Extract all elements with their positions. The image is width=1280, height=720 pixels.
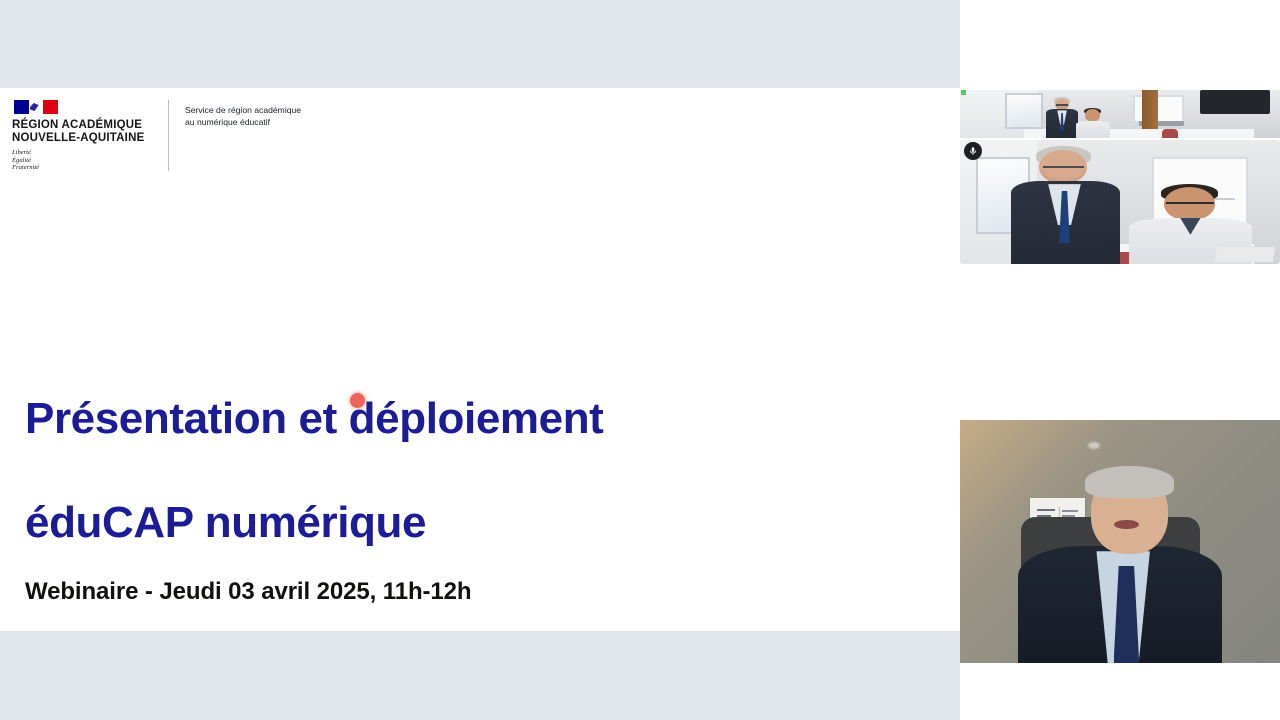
institutional-logo: RÉGION ACADÉMIQUE NOUVELLE-AQUITAINE Lib… — [12, 100, 301, 171]
video-tile-room-main[interactable] — [960, 140, 1280, 264]
meeting-room-main-scene — [960, 140, 1280, 264]
laser-pointer-dot — [350, 393, 365, 408]
meeting-room-scene — [960, 90, 1280, 138]
slide-subtitle: Webinaire - Jeudi 03 avril 2025, 11h-12h — [25, 578, 471, 606]
microphone-icon[interactable] — [964, 142, 982, 160]
video-tile-room-wide[interactable] — [960, 90, 1280, 138]
logo-divider — [168, 100, 169, 171]
service-label: Service de région académique au numériqu… — [185, 100, 301, 128]
motto-liberte: Liberté — [12, 149, 152, 156]
service-line-1: Service de région académique — [185, 104, 301, 116]
home-office-scene — [960, 420, 1280, 663]
slide-title-line-1: Présentation et déploiement — [25, 367, 925, 471]
shared-slide-area[interactable]: RÉGION ACADÉMIQUE NOUVELLE-AQUITAINE Lib… — [0, 0, 960, 720]
participant-video-rail — [960, 0, 1280, 720]
slide-title: Présentation et déploiement éduCAP numér… — [25, 367, 925, 575]
slide-letterbox-bottom — [0, 631, 960, 720]
meeting-screen-share-view: RÉGION ACADÉMIQUE NOUVELLE-AQUITAINE Lib… — [0, 0, 1280, 720]
region-academique-line2: NOUVELLE-AQUITAINE — [12, 132, 152, 145]
participant-standing — [1011, 150, 1120, 264]
active-speaker-indicator-dot — [961, 90, 966, 95]
video-tile-speaker[interactable] — [960, 420, 1280, 663]
slide-letterbox-top — [0, 0, 960, 88]
region-academique-line1: RÉGION ACADÉMIQUE — [12, 119, 152, 132]
french-flag-marianne-icon — [14, 100, 58, 114]
republic-motto: Liberté Égalité Fraternité — [12, 149, 152, 171]
motto-fraternite: Fraternité — [12, 164, 152, 171]
slide-title-line-2: éduCAP numérique — [25, 471, 925, 575]
marianne-block: RÉGION ACADÉMIQUE NOUVELLE-AQUITAINE Lib… — [12, 100, 152, 171]
slide-canvas: RÉGION ACADÉMIQUE NOUVELLE-AQUITAINE Lib… — [0, 88, 960, 631]
service-line-2: au numérique éducatif — [185, 116, 301, 128]
motto-egalite: Égalité — [12, 157, 152, 164]
